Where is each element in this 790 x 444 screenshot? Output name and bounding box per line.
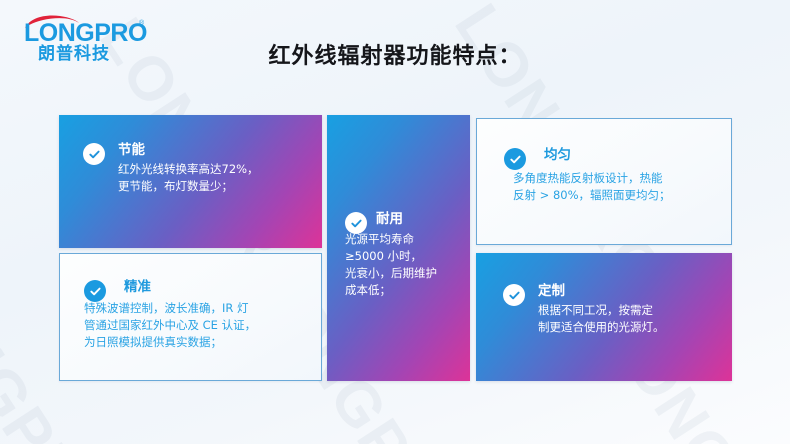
card-heading: 精准	[124, 279, 256, 296]
card-body: 多角度热能反射板设计，热能 反射 > 80%，辐照面更均匀；	[513, 170, 671, 204]
feature-card-precision[interactable]: 精准 特殊波谱控制，波长准确，IR 灯 管通过国家红外中心及 CE 认证， 为日…	[59, 253, 322, 381]
feature-card-uniform[interactable]: 均匀 多角度热能反射板设计，热能 反射 > 80%，辐照面更均匀；	[476, 118, 732, 245]
check-circle-icon	[504, 148, 526, 170]
card-heading: 耐用	[376, 211, 437, 228]
feature-card-energy-saving[interactable]: 节能 红外光线转换率高达72%， 更节能，布灯数量少；	[59, 115, 322, 248]
page-title: 红外线辐射器功能特点：	[0, 38, 790, 70]
card-heading: 均匀	[544, 147, 671, 164]
logo-registered-icon: ®	[139, 20, 144, 27]
feature-card-customization[interactable]: 定制 根据不同工况，按需定 制更适合使用的光源灯。	[476, 253, 732, 381]
check-circle-icon	[84, 280, 106, 302]
check-circle-icon	[83, 143, 105, 165]
card-body: 根据不同工况，按需定 制更适合使用的光源灯。	[538, 302, 665, 336]
card-heading: 节能	[118, 142, 259, 159]
card-body: 红外光线转换率高达72%， 更节能，布灯数量少；	[118, 161, 259, 195]
card-body: 光源平均寿命 ≥5000 小时， 光衰小，后期维护 成本低；	[345, 231, 437, 299]
feature-card-durable[interactable]: 耐用 光源平均寿命 ≥5000 小时， 光衰小，后期维护 成本低；	[327, 115, 470, 381]
card-heading: 定制	[538, 283, 665, 300]
card-body: 特殊波谱控制，波长准确，IR 灯 管通过国家红外中心及 CE 认证， 为日照模拟…	[84, 300, 256, 351]
check-circle-icon	[503, 284, 525, 306]
slide-canvas: LONGPRO LONGPRO LONGPRO LONGPRO LONGPRO …	[0, 0, 790, 444]
